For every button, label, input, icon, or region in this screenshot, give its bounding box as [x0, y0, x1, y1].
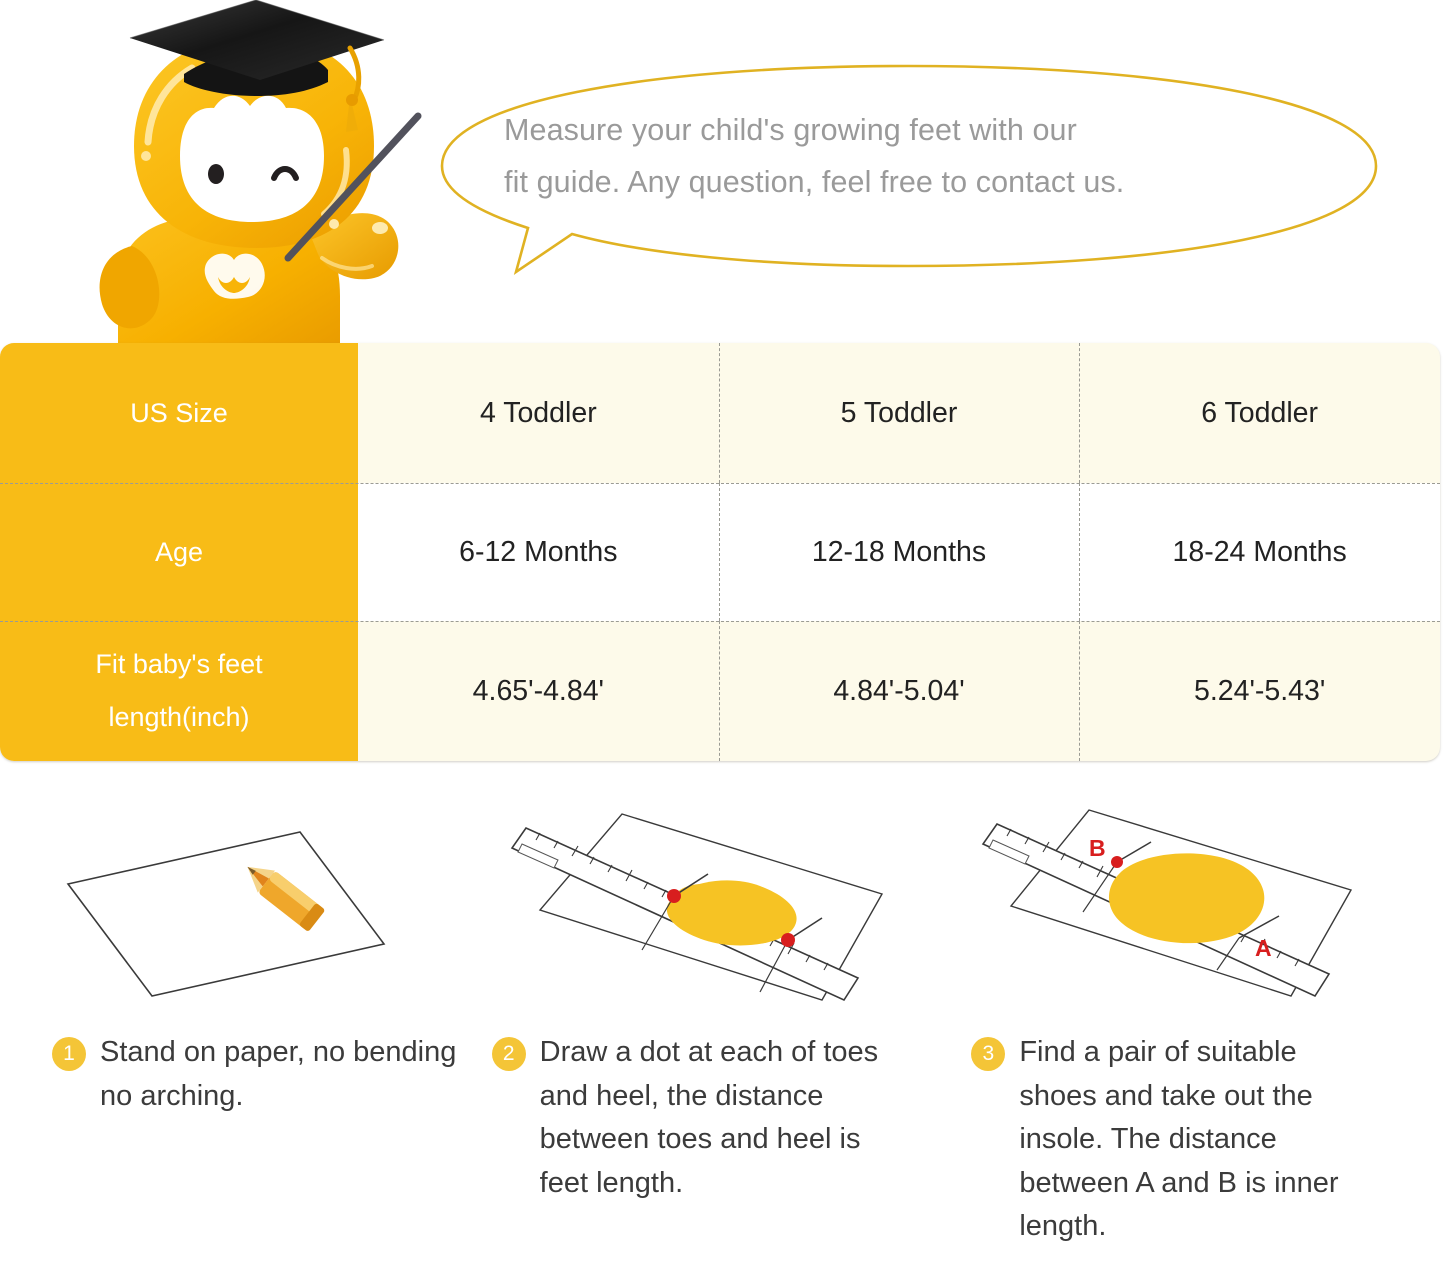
- bubble-line-2: fit guide. Any question, feel free to co…: [504, 156, 1314, 208]
- speech-bubble-text: Measure your child's growing feet with o…: [504, 104, 1314, 209]
- point-a-label: A: [1255, 935, 1272, 961]
- bubble-line-1: Measure your child's growing feet with o…: [504, 104, 1314, 156]
- step-1-caption: 1 Stand on paper, no bending no arching.: [52, 1031, 460, 1118]
- table-cell-foot-length-col3: 5.24'-5.43': [1079, 621, 1440, 761]
- step-2-illustration: [492, 800, 942, 1025]
- step-3-text: Find a pair of suitable shoes and take o…: [1019, 1031, 1379, 1249]
- size-chart-grid: US Size 4 Toddler 5 Toddler 6 Toddler Ag…: [0, 343, 1440, 761]
- table-cell-age-col3: 18-24 Months: [1079, 483, 1440, 621]
- mascot-illustration: [88, 0, 428, 356]
- speech-bubble: Measure your child's growing feet with o…: [432, 62, 1384, 277]
- row-label-text: US Size: [130, 387, 228, 440]
- measurement-steps: 1 Stand on paper, no bending no arching.: [0, 800, 1445, 1267]
- table-cell-us-size-col1: 4 Toddler: [358, 343, 719, 483]
- point-b-marker: [1111, 856, 1123, 868]
- mascot-character: [88, 0, 428, 356]
- step-3-badge: 3: [971, 1037, 1005, 1071]
- table-row-label-us-size: US Size: [0, 343, 358, 483]
- mascot-eye-open: [208, 164, 224, 184]
- heel-marker-dot: [781, 933, 795, 947]
- step-2-text: Draw a dot at each of toes and heel, the…: [540, 1031, 900, 1205]
- table-cell-foot-length-col1: 4.65'-4.84': [358, 621, 719, 761]
- step-2: 2 Draw a dot at each of toes and heel, t…: [482, 800, 964, 1267]
- ruler-insole-icon: B A: [971, 800, 1391, 1020]
- table-row-label-age: Age: [0, 483, 358, 621]
- point-b-label: B: [1089, 835, 1106, 861]
- step-1-text: Stand on paper, no bending no arching.: [100, 1031, 460, 1118]
- paper-with-pencil-icon: [52, 800, 452, 1020]
- insole-shape: [1109, 853, 1264, 943]
- step-3: B A 3 Find a pair of suitable shoes and …: [963, 800, 1445, 1267]
- row-label-text: Age: [155, 526, 203, 579]
- step-3-caption: 3 Find a pair of suitable shoes and take…: [971, 1031, 1423, 1249]
- table-cell-age-col1: 6-12 Months: [358, 483, 719, 621]
- step-3-illustration: B A: [971, 800, 1423, 1025]
- table-row-label-foot-length: Fit baby's feet length(inch): [0, 621, 358, 761]
- step-2-caption: 2 Draw a dot at each of toes and heel, t…: [492, 1031, 942, 1205]
- toe-marker-dot: [667, 889, 681, 903]
- ruler-footprint-icon: [492, 800, 912, 1020]
- table-cell-foot-length-col2: 4.84'-5.04': [719, 621, 1080, 761]
- table-cell-age-col2: 12-18 Months: [719, 483, 1080, 621]
- size-chart-table: US Size 4 Toddler 5 Toddler 6 Toddler Ag…: [0, 343, 1440, 761]
- step-1: 1 Stand on paper, no bending no arching.: [0, 800, 482, 1267]
- table-cell-us-size-col2: 5 Toddler: [719, 343, 1080, 483]
- step-1-badge: 1: [52, 1037, 86, 1071]
- step-1-illustration: [52, 800, 460, 1025]
- table-cell-us-size-col3: 6 Toddler: [1079, 343, 1440, 483]
- step-2-badge: 2: [492, 1037, 526, 1071]
